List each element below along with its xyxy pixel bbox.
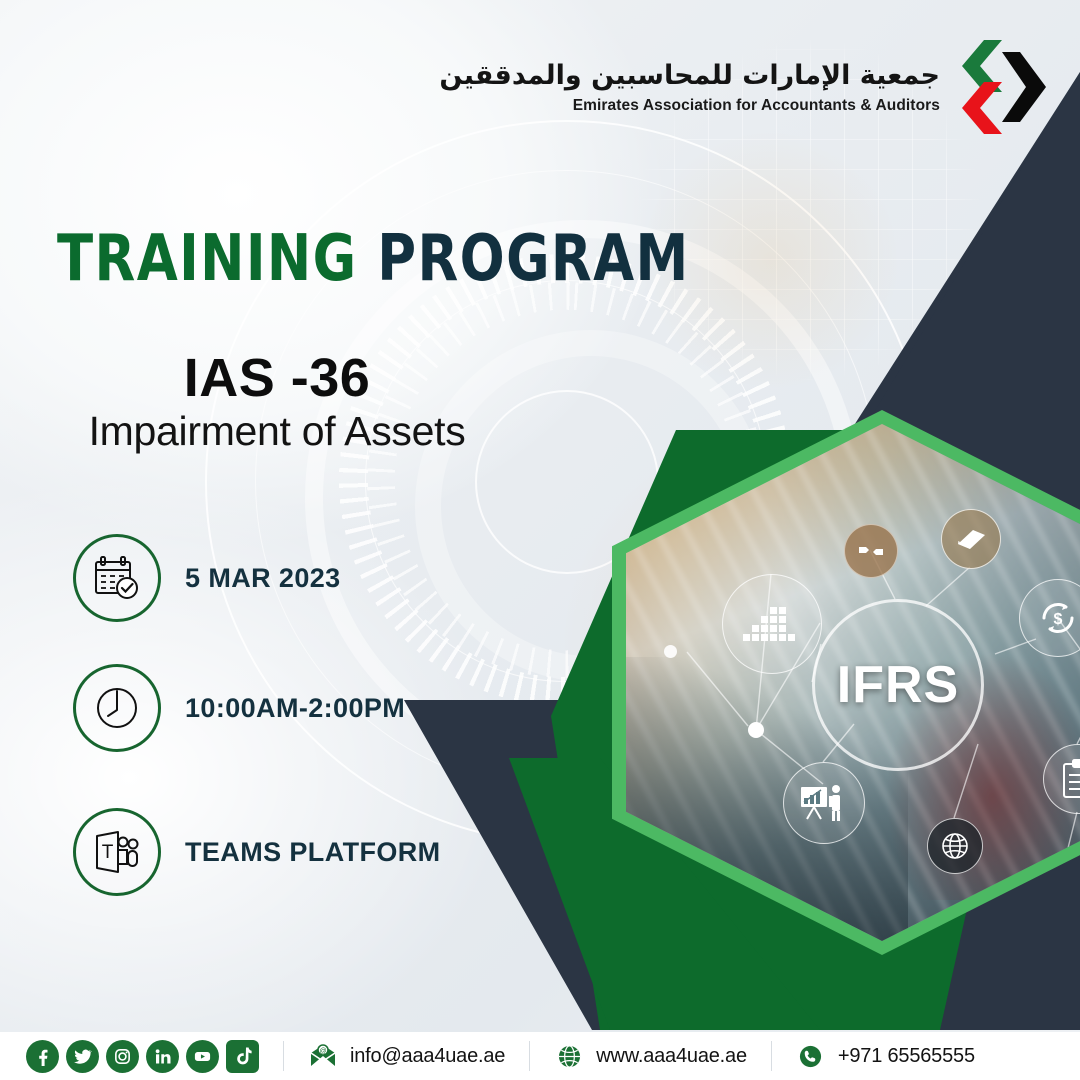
footer-divider-1 <box>283 1041 284 1071</box>
detail-row-date: 5 MAR 2023 <box>73 534 341 622</box>
contact-phone[interactable]: +971 65565555 <box>796 1041 975 1071</box>
detail-row-platform: T TEAMS PLATFORM <box>73 808 441 896</box>
presentation-icon <box>783 762 865 844</box>
network-dot-1 <box>748 722 764 738</box>
facebook-icon[interactable] <box>26 1040 59 1073</box>
poster-canvas: IFRS <box>0 0 1080 1080</box>
page-title-word-2: PROGRAM <box>377 222 689 296</box>
svg-text:T: T <box>102 842 114 863</box>
hexagon-photo: IFRS <box>626 424 1080 941</box>
brand-name-arabic: جمعية الإمارات للمحاسبين والمدققين <box>439 59 940 93</box>
contact-website[interactable]: www.aaa4uae.ae <box>554 1041 747 1071</box>
ifrs-network-diagram: IFRS <box>626 424 1080 941</box>
globe-icon <box>927 818 983 874</box>
phone-icon <box>796 1041 826 1071</box>
twitter-icon[interactable] <box>66 1040 99 1073</box>
brand-name-english: Emirates Association for Accountants & A… <box>439 97 940 115</box>
detail-label-time: 10:00AM-2:00PM <box>185 693 405 724</box>
email-icon: @ <box>308 1041 338 1071</box>
calendar-check-icon <box>73 534 161 622</box>
instagram-icon[interactable] <box>106 1040 139 1073</box>
phone-text: +971 65565555 <box>838 1045 975 1068</box>
svg-text:@: @ <box>319 1048 326 1055</box>
course-name: Impairment of Assets <box>62 409 492 455</box>
footer-bar: @ info@aaa4uae.ae www.aaa4uae.ae <box>0 1032 1080 1080</box>
email-text: info@aaa4uae.ae <box>350 1045 505 1068</box>
footer-divider-3 <box>771 1041 772 1071</box>
detail-label-date: 5 MAR 2023 <box>185 563 341 594</box>
globe-icon <box>554 1041 584 1071</box>
footer-divider-2 <box>529 1041 530 1071</box>
clock-icon <box>73 664 161 752</box>
detail-row-time: 10:00AM-2:00PM <box>73 664 405 752</box>
course-code: IAS -36 <box>62 350 492 407</box>
chevron-logo-mark <box>954 38 1050 136</box>
contact-email[interactable]: @ info@aaa4uae.ae <box>308 1041 505 1071</box>
brand-logo-text: جمعية الإمارات للمحاسبين والمدققين Emira… <box>439 59 940 115</box>
tiktok-icon[interactable] <box>226 1040 259 1073</box>
linkedin-icon[interactable] <box>146 1040 179 1073</box>
page-title-word-1: TRAINING <box>57 222 357 296</box>
svg-text:$: $ <box>1054 611 1063 628</box>
book-icon <box>941 509 1001 569</box>
network-dot-3 <box>664 645 677 658</box>
node-ifrs-center: IFRS <box>812 599 984 771</box>
website-text: www.aaa4uae.ae <box>596 1045 747 1068</box>
bar-chart-icon <box>722 574 822 674</box>
hero-hexagon: IFRS <box>612 410 1080 955</box>
page-title: TRAINING PROGRAM <box>57 222 690 296</box>
brand-logo: جمعية الإمارات للمحاسبين والمدققين Emira… <box>439 38 1050 136</box>
social-links <box>26 1040 259 1073</box>
youtube-icon[interactable] <box>186 1040 219 1073</box>
teams-icon: T <box>73 808 161 896</box>
handshake-icon <box>844 524 898 578</box>
course-block: IAS -36 Impairment of Assets <box>62 350 492 455</box>
detail-label-platform: TEAMS PLATFORM <box>185 837 441 868</box>
